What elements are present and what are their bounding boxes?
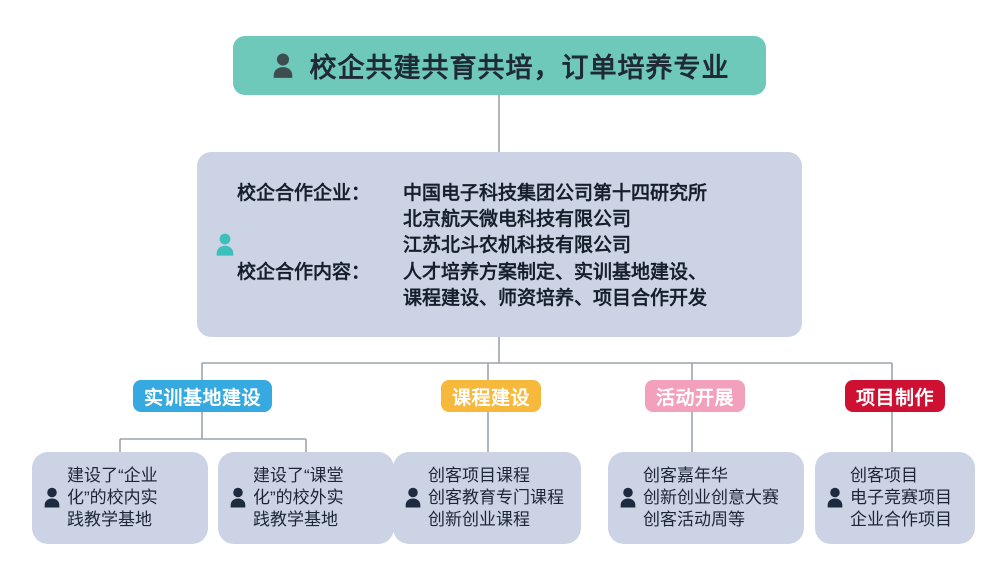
leaf-text: 建设了“企业 化”的校内实 践教学基地: [67, 465, 158, 531]
leaf-line: 创客项目: [850, 465, 952, 487]
leaf-text: 创客嘉年华 创新创业创意大赛 创客活动周等: [643, 465, 779, 531]
info-row-continuation: 北京航天微电科技有限公司: [237, 207, 790, 233]
leaf-line: 建设了“课堂: [253, 465, 344, 487]
category-chip-projects[interactable]: 项目制作: [845, 380, 945, 412]
info-row-value: 江苏北斗农机科技有限公司: [403, 233, 631, 259]
diagram-canvas: 校企共建共育共培，订单培养专业 校企合作企业： 中国电子科技集团公司第十四研究所…: [0, 0, 999, 571]
info-row-value: 北京航天微电科技有限公司: [403, 207, 631, 233]
info-rows: 校企合作企业： 中国电子科技集团公司第十四研究所 北京航天微电科技有限公司 江苏…: [237, 168, 790, 325]
person-icon: [227, 486, 249, 510]
leaf-box: 创客嘉年华 创新创业创意大赛 创客活动周等: [608, 452, 804, 544]
leaf-line: 企业合作项目: [850, 509, 952, 531]
info-row-value: 中国电子科技集团公司第十四研究所: [403, 181, 707, 207]
leaf-line: 创客教育专门课程: [428, 487, 564, 509]
leaf-line: 化”的校外实: [253, 487, 344, 509]
leaf-line: 化”的校内实: [67, 487, 158, 509]
category-chip-activities[interactable]: 活动开展: [645, 380, 745, 412]
person-icon: [617, 486, 639, 510]
leaf-line: 践教学基地: [67, 509, 158, 531]
leaf-box: 创客项目课程 创客教育专门课程 创新创业课程: [393, 452, 581, 544]
leaf-line: 电子竞赛项目: [850, 487, 952, 509]
leaf-text: 建设了“课堂 化”的校外实 践教学基地: [253, 465, 344, 531]
leaf-text: 创客项目课程 创客教育专门课程 创新创业课程: [428, 465, 564, 531]
diagram-title-banner: 校企共建共育共培，订单培养专业: [233, 36, 766, 95]
leaf-box: 建设了“企业 化”的校内实 践教学基地: [32, 452, 208, 544]
leaf-line: 践教学基地: [253, 509, 344, 531]
person-icon: [824, 486, 846, 510]
info-row-continuation: 江苏北斗农机科技有限公司: [237, 233, 790, 259]
info-row: 校企合作内容： 人才培养方案制定、实训基地建设、: [237, 260, 790, 286]
leaf-line: 创新创业创意大赛: [643, 487, 779, 509]
leaf-line: 建设了“企业: [67, 465, 158, 487]
info-row-continuation: 课程建设、师资培养、项目合作开发: [237, 286, 790, 312]
info-row: 校企合作企业： 中国电子科技集团公司第十四研究所: [237, 181, 790, 207]
person-icon: [41, 486, 63, 510]
leaf-box: 创客项目 电子竞赛项目 企业合作项目: [815, 452, 975, 544]
info-row-value: 课程建设、师资培养、项目合作开发: [403, 286, 707, 312]
person-icon: [213, 232, 237, 258]
leaf-line: 创客嘉年华: [643, 465, 779, 487]
person-icon: [402, 486, 424, 510]
info-row-value: 人才培养方案制定、实训基地建设、: [403, 260, 707, 286]
leaf-box: 建设了“课堂 化”的校外实 践教学基地: [218, 452, 394, 544]
person-icon: [270, 52, 296, 80]
page-title: 校企共建共育共培，订单培养专业: [310, 46, 730, 85]
category-chip-curriculum[interactable]: 课程建设: [441, 380, 541, 412]
leaf-line: 创新创业课程: [428, 509, 564, 531]
leaf-line: 创客活动周等: [643, 509, 779, 531]
category-chip-training-base[interactable]: 实训基地建设: [133, 380, 272, 412]
cooperation-info-panel: 校企合作企业： 中国电子科技集团公司第十四研究所 北京航天微电科技有限公司 江苏…: [197, 152, 802, 337]
info-row-label: 校企合作企业：: [237, 181, 403, 207]
leaf-text: 创客项目 电子竞赛项目 企业合作项目: [850, 465, 952, 531]
info-row-label: 校企合作内容：: [237, 260, 403, 286]
leaf-line: 创客项目课程: [428, 465, 564, 487]
